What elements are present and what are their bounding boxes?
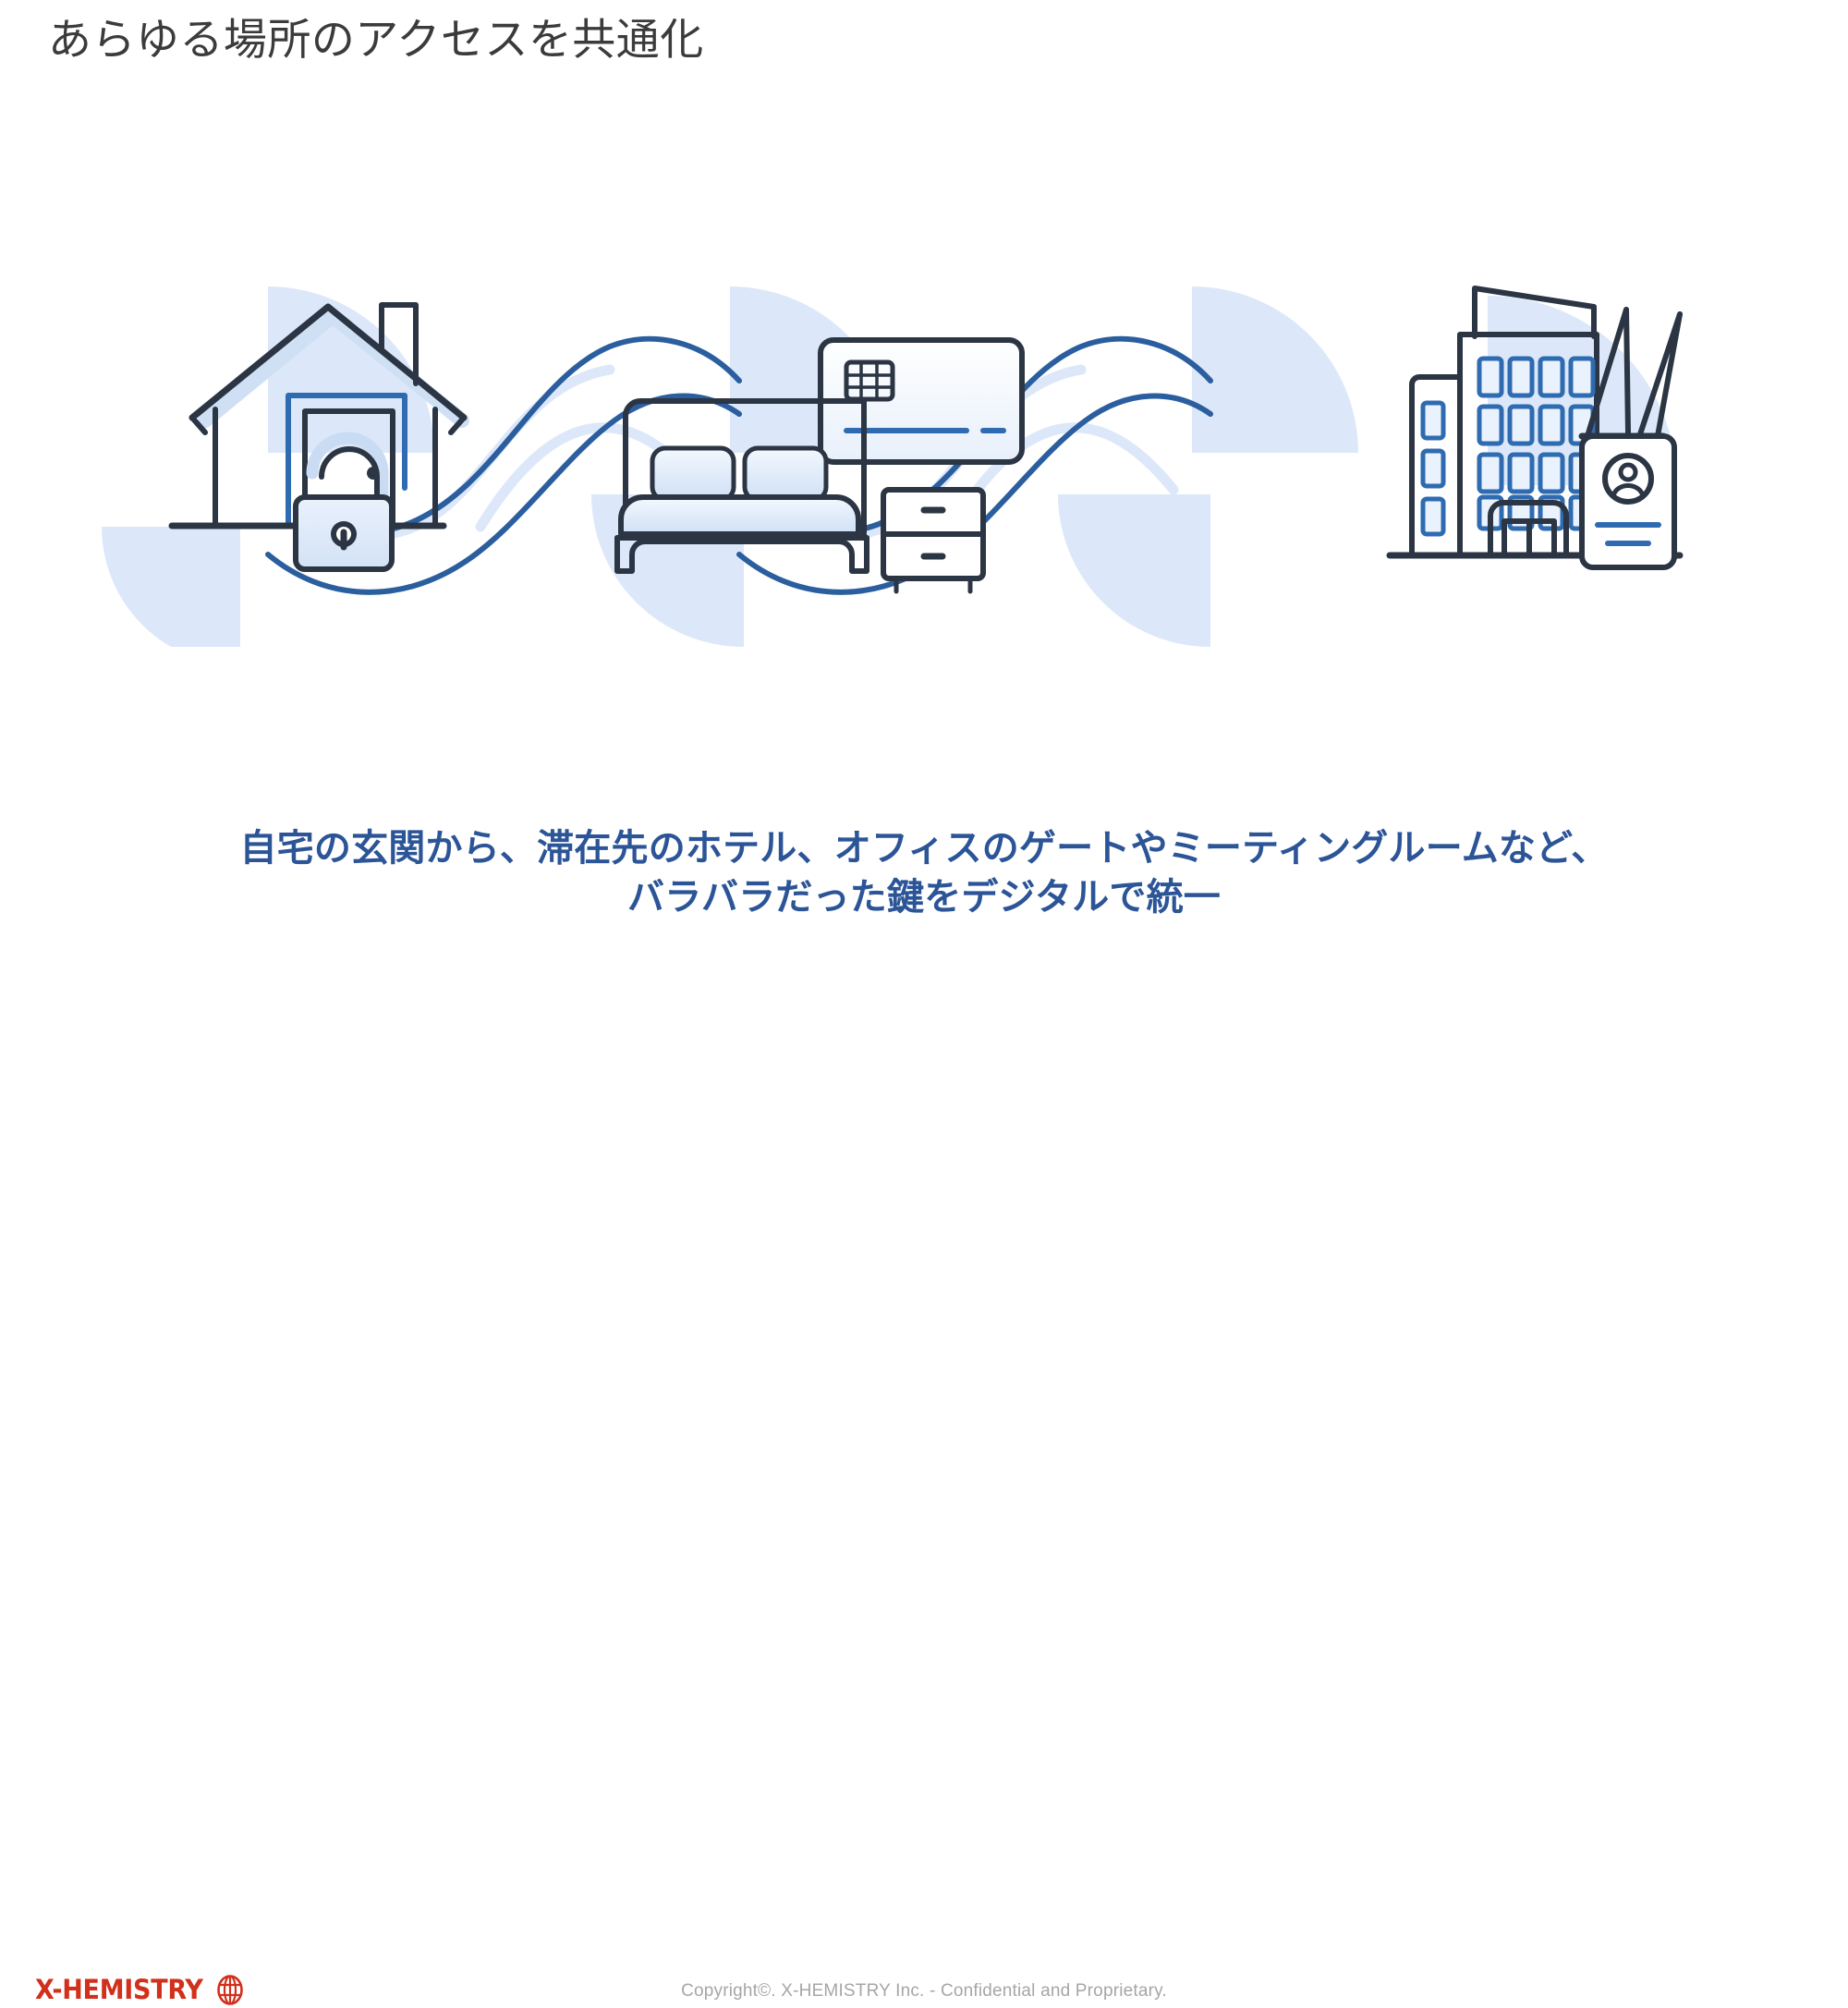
padlock-icon: [296, 438, 392, 569]
page-title: あらゆる場所のアクセスを共通化: [48, 13, 704, 67]
pillow-icon: [652, 448, 734, 500]
copyright-text: Copyright©. X-HEMISTRY Inc. - Confidenti…: [0, 1981, 1848, 2002]
slide-caption: 自宅の玄関から、滞在先のホテル、オフィスのゲートやミーティングルームなど、 バラ…: [0, 824, 1848, 922]
pillow-icon: [745, 448, 826, 500]
caption-line-1: 自宅の玄関から、滞在先のホテル、オフィスのゲートやミーティングルームなど、: [0, 824, 1848, 873]
caption-line-2: バラバラだった鍵をデジタルで統一: [0, 873, 1848, 922]
access-journey-illustration: [0, 259, 1848, 647]
nightstand-icon: [883, 490, 983, 591]
slide-root: あらゆる場所のアクセスを共通化: [0, 0, 1848, 1040]
slide-footer: X-HEMISTRY Copyright©. X-HEMISTRY Inc. -…: [0, 980, 1848, 1040]
